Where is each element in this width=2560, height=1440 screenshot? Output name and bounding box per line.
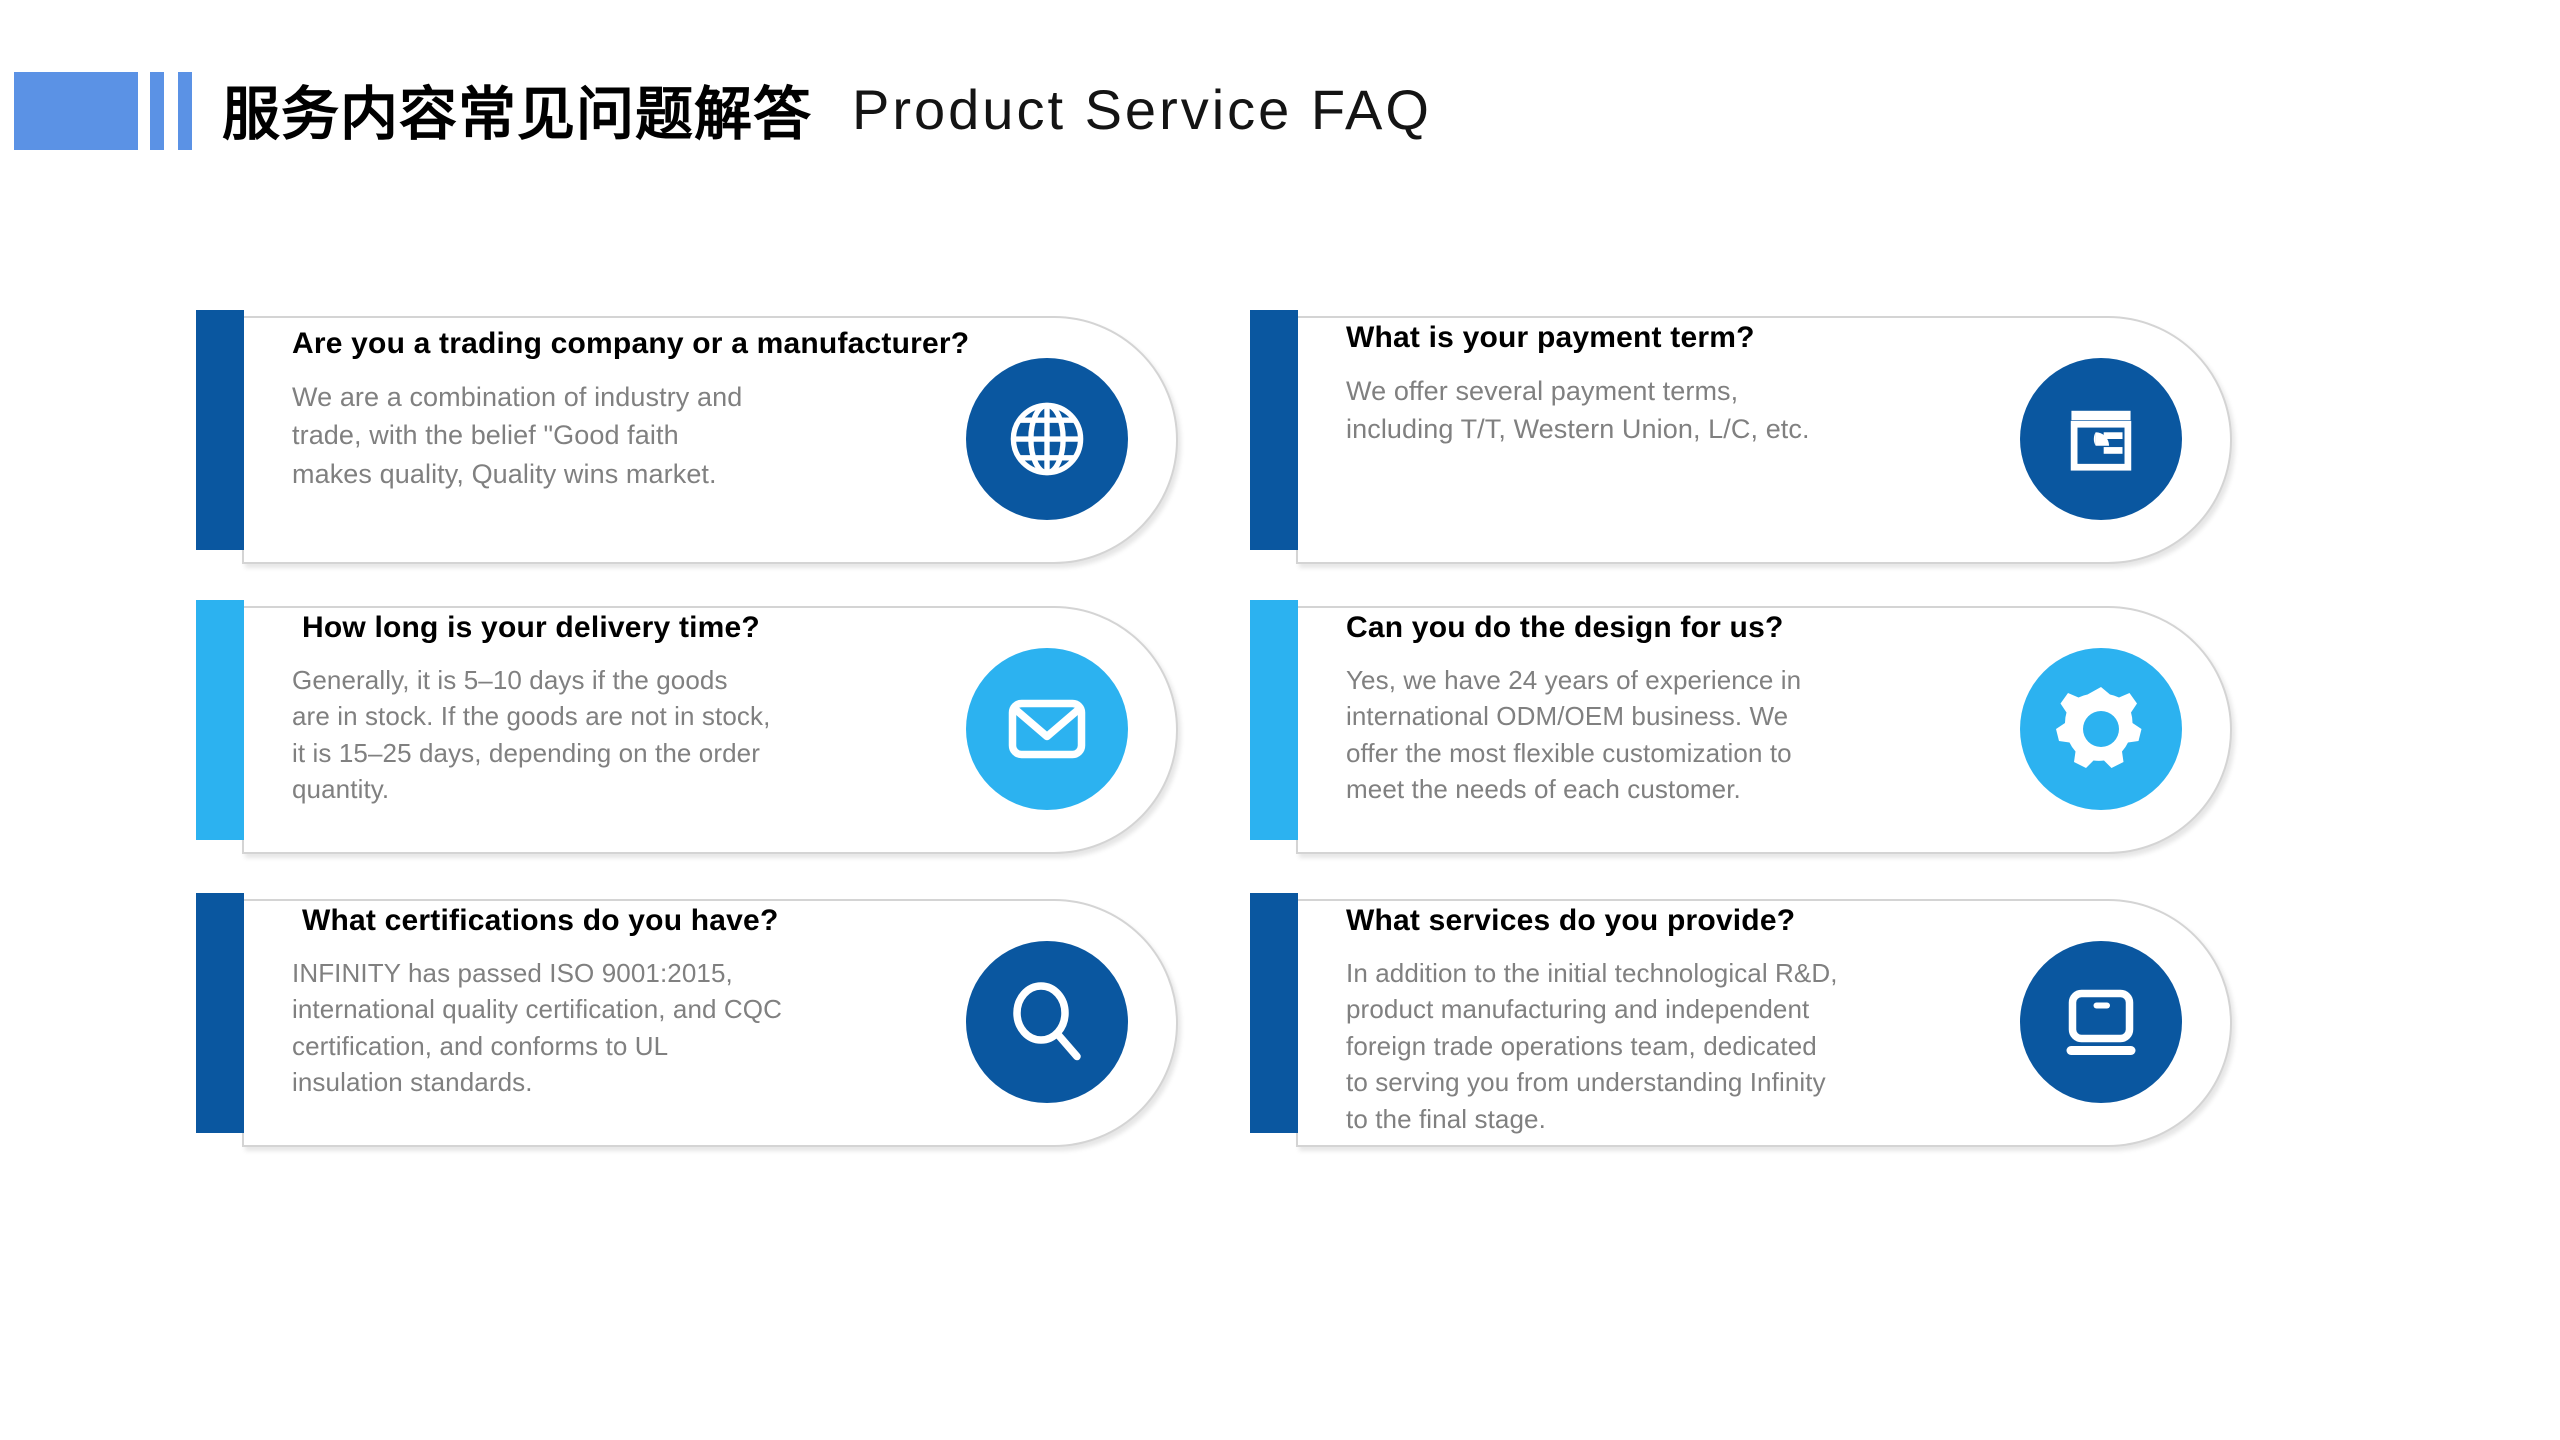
globe-icon [966, 358, 1128, 520]
search-icon [966, 941, 1128, 1103]
card-answer: We are a combination of industry and tra… [292, 378, 982, 493]
mail-icon [966, 648, 1128, 810]
faq-grid: Are you a trading company or a manufactu… [0, 0, 2560, 1440]
card-accent-bar [1250, 310, 1298, 550]
card-answer: In addition to the initial technological… [1346, 955, 2036, 1137]
card-answer: Yes, we have 24 years of experience in i… [1346, 662, 2036, 808]
card-answer: INFINITY has passed ISO 9001:2015, inter… [292, 955, 982, 1101]
card-body: What services do you provide? In additio… [1346, 893, 2036, 1143]
faq-card-services-provided[interactable]: What services do you provide? In additio… [1250, 893, 2232, 1143]
card-question: What is your payment term? [1346, 320, 2036, 356]
presentation-icon [2020, 358, 2182, 520]
card-question: What certifications do you have? [292, 903, 982, 939]
card-body: Are you a trading company or a manufactu… [292, 310, 982, 560]
card-question: Are you a trading company or a manufactu… [292, 326, 982, 362]
card-accent-bar [196, 600, 244, 840]
card-answer: Generally, it is 5–10 days if the goods … [292, 662, 982, 808]
faq-card-trading-company[interactable]: Are you a trading company or a manufactu… [196, 310, 1178, 560]
laptop-icon [2020, 941, 2182, 1103]
card-accent-bar [196, 893, 244, 1133]
card-answer: We offer several payment terms, includin… [1346, 372, 2036, 449]
gear-icon [2020, 648, 2182, 810]
faq-card-certifications[interactable]: What certifications do you have? INFINIT… [196, 893, 1178, 1143]
faq-card-design-service[interactable]: Can you do the design for us? Yes, we ha… [1250, 600, 2232, 850]
card-accent-bar [1250, 600, 1298, 840]
card-body: Can you do the design for us? Yes, we ha… [1346, 600, 2036, 850]
card-question: How long is your delivery time? [292, 610, 982, 646]
card-body: What is your payment term? We offer seve… [1346, 310, 2036, 560]
card-question: What services do you provide? [1346, 903, 2036, 939]
card-question: Can you do the design for us? [1346, 610, 2036, 646]
card-accent-bar [196, 310, 244, 550]
card-body: How long is your delivery time? Generall… [292, 600, 982, 850]
faq-card-payment-term[interactable]: What is your payment term? We offer seve… [1250, 310, 2232, 560]
card-body: What certifications do you have? INFINIT… [292, 893, 982, 1143]
faq-card-delivery-time[interactable]: How long is your delivery time? Generall… [196, 600, 1178, 850]
card-accent-bar [1250, 893, 1298, 1133]
